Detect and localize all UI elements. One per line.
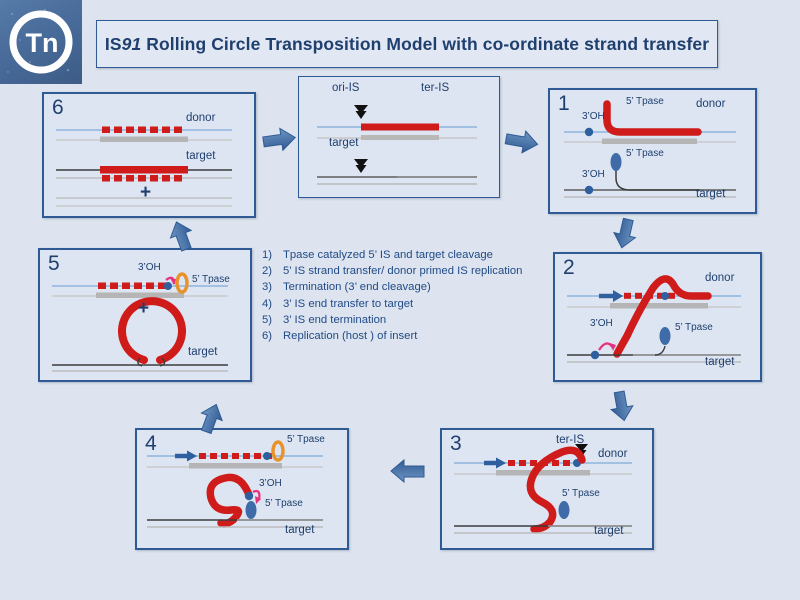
legend-item: 6) Replication (host ) of insert: [262, 328, 562, 344]
legend-number: 2): [262, 263, 272, 279]
legend-item: 5) 3’ IS end termination: [262, 312, 562, 328]
legend-number: 6): [262, 328, 272, 344]
panel-3[interactable]: 3 ter-IS donor 5’: [440, 428, 654, 550]
panel-2[interactable]: 2: [553, 252, 762, 382]
legend-item: 1) Tpase catalyzed 5’ IS and target clea…: [262, 247, 562, 263]
arrow-6-to-start: [262, 127, 297, 153]
label-target: target: [186, 150, 215, 162]
plus-sign: +: [140, 182, 151, 204]
label-target: target: [696, 188, 725, 200]
label-target: target: [285, 524, 314, 536]
ctn-logo: Tn: [0, 0, 82, 84]
label-target: target: [705, 356, 734, 368]
label-tpase-donor: 5’ Tpase: [626, 96, 664, 107]
legend-text: Termination (3’ end cleavage): [283, 281, 431, 293]
starting-substrates-panel[interactable]: ori-IS ter-IS target: [298, 76, 500, 198]
label-target: target: [188, 346, 217, 358]
title-rest: Rolling Circle Transposition Model with …: [141, 34, 709, 54]
arrow-1-to-2: [611, 217, 639, 250]
legend-item: 4) 3’ IS end transfer to target: [262, 296, 562, 312]
legend-text: 5’ IS strand transfer/ donor primed IS r…: [283, 265, 522, 277]
legend-item: 2) 5’ IS strand transfer/ donor primed I…: [262, 263, 562, 279]
legend-number: 1): [262, 247, 272, 263]
panel-5[interactable]: 5 3’OH 5’ Tpase + target: [38, 248, 252, 382]
panel-6[interactable]: 6 donor targ: [42, 92, 256, 218]
label-3oh: 3’OH: [590, 318, 613, 329]
legend-number: 3): [262, 279, 272, 295]
label-tpase-donor: 5’ Tpase: [287, 434, 325, 445]
label-donor: donor: [705, 272, 734, 284]
panel-1[interactable]: 1 3’OH 5’ Tpase donor 3’OH 5’ Tpase targ…: [548, 88, 757, 214]
label-3oh-target: 3’OH: [582, 169, 605, 180]
arrow-3-to-4: [391, 460, 424, 482]
label-tpase-target: 5’ Tpase: [265, 498, 303, 509]
panel-4[interactable]: 4 5: [135, 428, 349, 550]
label-tpase-target: 5’ Tpase: [626, 148, 664, 159]
label-donor: donor: [598, 448, 627, 460]
label-3oh: 3’OH: [138, 262, 161, 273]
page-title: IS91 Rolling Circle Transposition Model …: [105, 34, 709, 55]
label-donor: donor: [186, 112, 215, 124]
label-tpase: 5’ Tpase: [675, 322, 713, 333]
label-tpase: 5’ Tpase: [192, 274, 230, 285]
slide-title-bar: IS91 Rolling Circle Transposition Model …: [96, 20, 718, 68]
label-donor: donor: [696, 98, 725, 110]
logo-letters: Tn: [26, 28, 59, 58]
legend-text: 3’ IS end transfer to target: [283, 298, 413, 310]
legend-text: Tpase catalyzed 5’ IS and target cleavag…: [283, 249, 493, 261]
slide-canvas: Tn IS91 Rolling Circle Transposition Mod…: [0, 0, 800, 600]
label-ori-is: ori-IS: [332, 82, 359, 94]
title-prefix: IS: [105, 34, 122, 54]
arrow-start-to-1: [504, 128, 539, 155]
label-3oh: 3’OH: [259, 478, 282, 489]
label-tpase: 5’ Tpase: [562, 488, 600, 499]
legend-text: 3’ IS end termination: [283, 314, 386, 326]
label-ter-is: ter-IS: [556, 434, 584, 446]
legend-text: Replication (host ) of insert: [283, 330, 417, 342]
arrow-2-to-3: [608, 390, 635, 422]
plus-sign: +: [138, 298, 149, 320]
label-target: target: [594, 525, 623, 537]
legend-steps-list: 1) Tpase catalyzed 5’ IS and target clea…: [262, 247, 562, 344]
legend-number: 5): [262, 312, 272, 328]
legend-item: 3) Termination (3’ end cleavage): [262, 279, 562, 295]
legend-number: 4): [262, 296, 272, 312]
label-target: target: [329, 137, 358, 149]
title-italic-number: 91: [122, 34, 142, 54]
label-ter-is: ter-IS: [421, 82, 449, 94]
label-3oh-donor: 3’OH: [582, 111, 605, 122]
